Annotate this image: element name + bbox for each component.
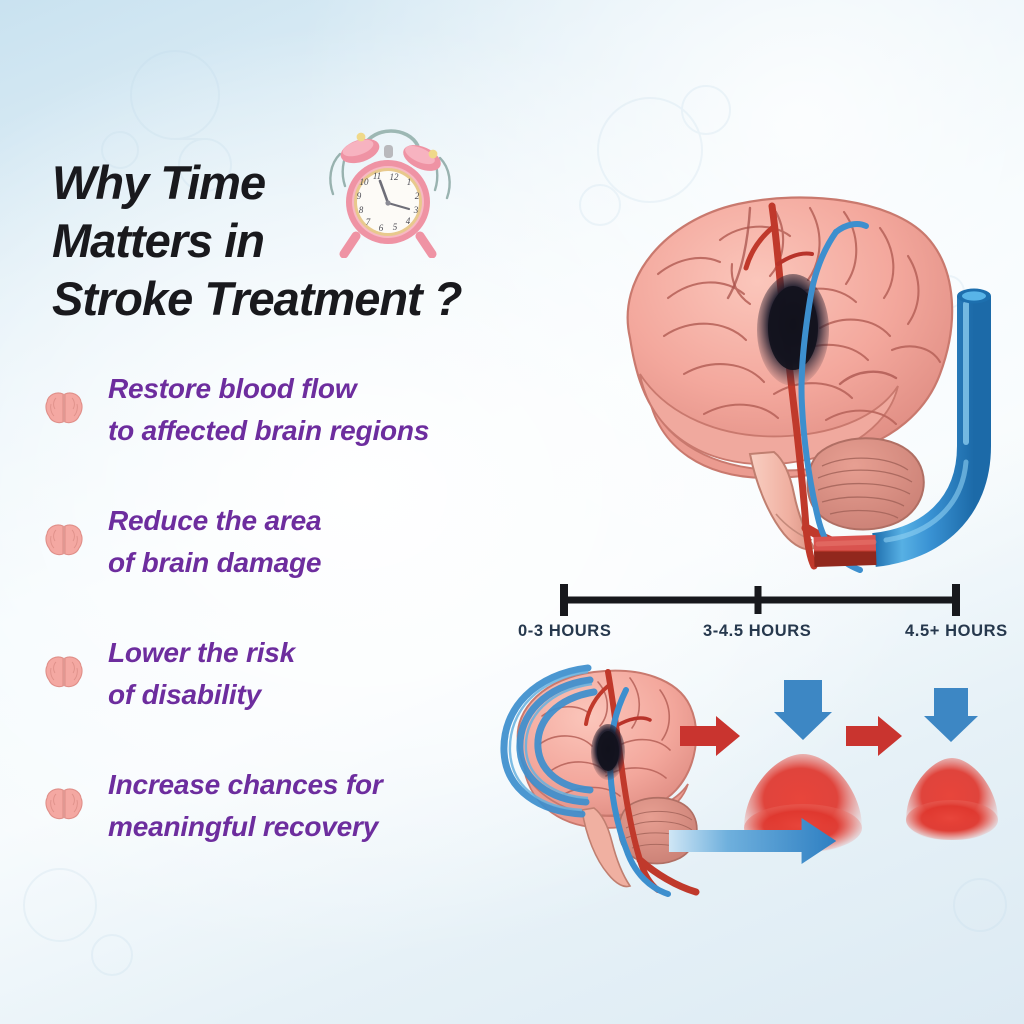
alarm-clock-icon: 121 23 45 67 89 1011 bbox=[312, 118, 464, 258]
list-item: Increase chances for meaningful recovery bbox=[38, 764, 538, 848]
svg-text:10: 10 bbox=[360, 177, 370, 187]
timeline-axis bbox=[500, 578, 1024, 622]
svg-text:7: 7 bbox=[366, 217, 371, 227]
brain-bullet-icon bbox=[44, 654, 84, 690]
list-item-text: Restore blood flow to affected brain reg… bbox=[108, 368, 538, 452]
svg-text:2: 2 bbox=[415, 191, 420, 201]
infographic-poster: Why Time Matters in Stroke Treatment ? 1… bbox=[0, 0, 1024, 1024]
list-item-line: of disability bbox=[108, 674, 538, 716]
svg-text:1: 1 bbox=[407, 177, 412, 187]
list-item-line: Increase chances for bbox=[108, 764, 538, 806]
svg-text:6: 6 bbox=[379, 223, 384, 233]
list-item: Restore blood flow to affected brain reg… bbox=[38, 368, 538, 452]
title-line-2: Matters in bbox=[52, 212, 552, 270]
svg-text:3: 3 bbox=[413, 205, 419, 215]
timeline-label-3-4.5-hours: 3-4.5 HOURS bbox=[703, 622, 811, 641]
list-item-line: of brain damage bbox=[108, 542, 538, 584]
list-item-line: Reduce the area bbox=[108, 500, 538, 542]
timeline-label-4.5-plus-hours: 4.5+ HOURS bbox=[905, 622, 1008, 641]
benefits-list: Restore blood flow to affected brain reg… bbox=[38, 368, 538, 848]
svg-text:9: 9 bbox=[357, 191, 362, 201]
list-item: Reduce the area of brain damage bbox=[38, 500, 538, 584]
blue-down-arrow-2-icon bbox=[924, 688, 978, 742]
blue-down-arrow-1-icon bbox=[774, 680, 832, 740]
list-item-text: Reduce the area of brain damage bbox=[108, 500, 538, 584]
title-line-1: Why Time bbox=[52, 154, 552, 212]
svg-text:8: 8 bbox=[359, 205, 364, 215]
list-item-line: Lower the risk bbox=[108, 632, 538, 674]
treatment-progression-diagram bbox=[490, 660, 1024, 910]
small-lesion-shape bbox=[906, 758, 998, 840]
list-item-line: meaningful recovery bbox=[108, 806, 538, 848]
svg-text:12: 12 bbox=[390, 172, 400, 182]
treatment-timeline: 0-3 HOURS 3-4.5 HOURS 4.5+ HOURS bbox=[500, 578, 1024, 658]
brain-with-catheter-illustration bbox=[488, 178, 1024, 578]
red-arrow-2-icon bbox=[846, 716, 902, 756]
brain-bullet-icon bbox=[44, 786, 84, 822]
list-item: Lower the risk of disability bbox=[38, 632, 538, 716]
brain-bullet-icon bbox=[44, 390, 84, 426]
svg-text:4: 4 bbox=[406, 216, 411, 226]
list-item-text: Lower the risk of disability bbox=[108, 632, 538, 716]
list-item-line: to affected brain regions bbox=[108, 410, 538, 452]
svg-text:5: 5 bbox=[393, 222, 398, 232]
list-item-text: Increase chances for meaningful recovery bbox=[108, 764, 538, 848]
brain-bullet-icon bbox=[44, 522, 84, 558]
list-item-line: Restore blood flow bbox=[108, 368, 538, 410]
title-line-3: Stroke Treatment ? bbox=[52, 270, 552, 328]
svg-text:11: 11 bbox=[373, 171, 381, 181]
page-title: Why Time Matters in Stroke Treatment ? bbox=[52, 154, 552, 328]
